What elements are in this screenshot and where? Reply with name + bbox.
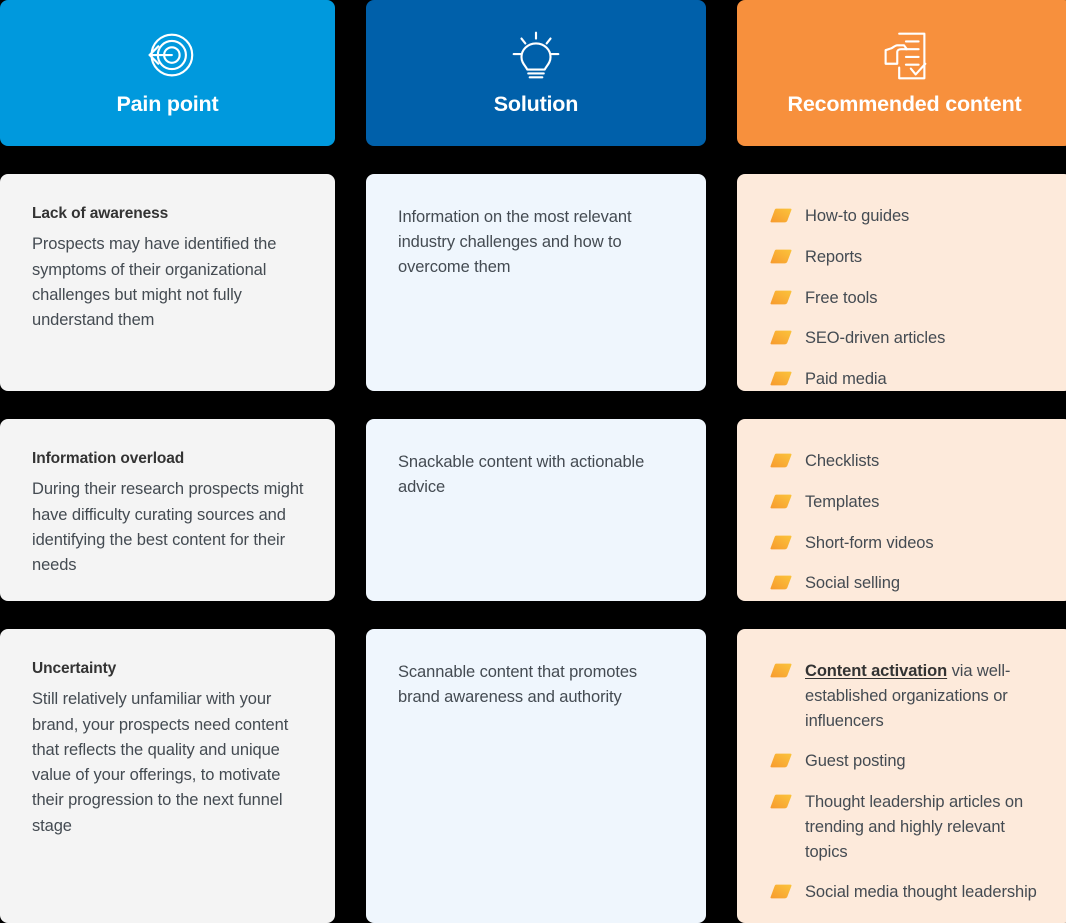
content-list-item: How-to guides xyxy=(770,204,1050,229)
pain-description: Prospects may have identified the sympto… xyxy=(32,232,305,333)
pain-title: Uncertainty xyxy=(32,659,305,678)
content-list-item-label: Reports xyxy=(805,245,862,270)
pain-description: During their research prospects might ha… xyxy=(32,477,305,578)
leaf-bullet-icon xyxy=(770,371,792,386)
leaf-bullet-icon xyxy=(770,208,792,223)
row-gap xyxy=(0,146,1066,174)
content-list-item-label: Content activation via well-established … xyxy=(805,659,1050,733)
pain-title: Lack of awareness xyxy=(32,204,305,223)
content-list-item-label: Social media thought leadership xyxy=(805,880,1037,905)
solution-description: Snackable content with actionable advice xyxy=(398,449,676,500)
leaf-bullet-icon xyxy=(770,753,792,768)
leaf-bullet-icon xyxy=(770,884,792,899)
comparison-table: Pain point Solution xyxy=(0,0,1066,923)
recommended-content-card: How-to guidesReportsFree toolsSEO-driven… xyxy=(737,174,1066,391)
leaf-bullet-icon xyxy=(770,663,792,678)
header-pain-point: Pain point xyxy=(0,0,335,146)
content-list-item: Content activation via well-established … xyxy=(770,659,1050,733)
solution-card: Information on the most relevant industr… xyxy=(366,174,706,391)
header-solution: Solution xyxy=(366,0,706,146)
leaf-bullet-icon xyxy=(770,794,792,809)
header-title: Recommended content xyxy=(788,93,1022,117)
pain-description: Still relatively unfamiliar with your br… xyxy=(32,687,305,838)
grid-gap xyxy=(335,0,366,146)
content-list-item: Short-form videos xyxy=(770,531,1050,556)
recommended-content-card: Content activation via well-established … xyxy=(737,629,1066,923)
content-list-item: Checklists xyxy=(770,449,1050,474)
leaf-bullet-icon xyxy=(770,453,792,468)
header-recommended-content: Recommended content xyxy=(737,0,1066,146)
content-list-item: SEO-driven articles xyxy=(770,326,1050,351)
solution-description: Information on the most relevant industr… xyxy=(398,204,676,281)
content-list-item-label: Paid media xyxy=(805,367,887,391)
content-list-item-label: Social selling xyxy=(805,571,900,596)
content-list: Content activation via well-established … xyxy=(770,659,1050,905)
grid-gap xyxy=(706,629,737,923)
leaf-bullet-icon xyxy=(770,535,792,550)
content-list-item: Guest posting xyxy=(770,749,1050,774)
content-list-item: Paid media xyxy=(770,367,1050,391)
content-list-item: Thought leadership articles on trending … xyxy=(770,790,1050,864)
solution-description: Scannable content that promotes brand aw… xyxy=(398,659,676,710)
content-list-item-label: Templates xyxy=(805,490,879,515)
content-list-item: Reports xyxy=(770,245,1050,270)
row-gap xyxy=(0,391,1066,419)
leaf-bullet-icon xyxy=(770,290,792,305)
target-arrow-icon xyxy=(135,25,201,87)
content-list-item-label: Short-form videos xyxy=(805,531,934,556)
leaf-bullet-icon xyxy=(770,330,792,345)
header-title: Solution xyxy=(494,93,578,117)
grid-gap xyxy=(335,419,366,601)
content-list-item-label: How-to guides xyxy=(805,204,909,229)
content-list-item-label: Guest posting xyxy=(805,749,906,774)
content-list-item: Templates xyxy=(770,490,1050,515)
grid-gap xyxy=(706,0,737,146)
recommended-content-card: ChecklistsTemplatesShort-form videosSoci… xyxy=(737,419,1066,601)
table-grid: Pain point Solution xyxy=(0,0,1066,923)
document-checklist-icon xyxy=(872,25,938,87)
content-list-item-label: SEO-driven articles xyxy=(805,326,945,351)
content-list-item: Free tools xyxy=(770,286,1050,311)
content-list-item: Social selling xyxy=(770,571,1050,596)
content-list-item: Social media thought leadership xyxy=(770,880,1050,905)
content-list-item-label: Thought leadership articles on trending … xyxy=(805,790,1050,864)
pain-card: Uncertainty Still relatively unfamiliar … xyxy=(0,629,335,923)
leaf-bullet-icon xyxy=(770,494,792,509)
grid-gap xyxy=(335,174,366,391)
lightbulb-icon xyxy=(503,25,569,87)
leaf-bullet-icon xyxy=(770,249,792,264)
row-gap xyxy=(0,601,1066,629)
pain-card: Information overload During their resear… xyxy=(0,419,335,601)
pain-card: Lack of awareness Prospects may have ide… xyxy=(0,174,335,391)
grid-gap xyxy=(706,419,737,601)
grid-gap xyxy=(706,174,737,391)
grid-gap xyxy=(335,629,366,923)
content-activation-link[interactable]: Content activation xyxy=(805,662,947,680)
header-title: Pain point xyxy=(117,93,219,117)
leaf-bullet-icon xyxy=(770,575,792,590)
content-list: ChecklistsTemplatesShort-form videosSoci… xyxy=(770,449,1050,596)
content-list-item-label: Free tools xyxy=(805,286,877,311)
content-list-item-label: Checklists xyxy=(805,449,879,474)
solution-card: Snackable content with actionable advice xyxy=(366,419,706,601)
content-list: How-to guidesReportsFree toolsSEO-driven… xyxy=(770,204,1050,391)
pain-title: Information overload xyxy=(32,449,305,468)
solution-card: Scannable content that promotes brand aw… xyxy=(366,629,706,923)
